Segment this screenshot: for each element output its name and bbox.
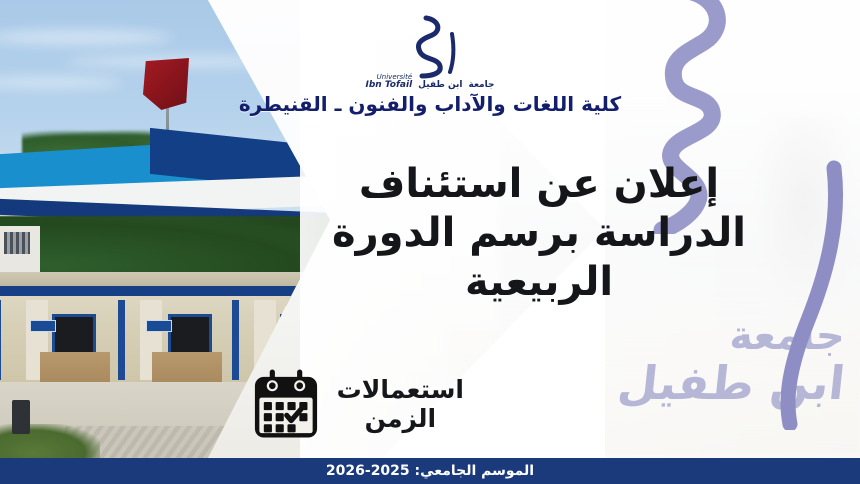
logo-latin-main: Ibn Tofail (366, 81, 413, 90)
logo-wordmark: جامعة ابن طفيل Université Ibn Tofail (366, 74, 495, 90)
timetable-label-line-2: الزمن (337, 405, 464, 434)
facade-pillar (232, 300, 239, 380)
facade-pillar (0, 300, 1, 380)
facade-window (168, 314, 212, 356)
facade-window (52, 314, 96, 356)
timetable-row: استعمالات الزمن (249, 368, 464, 442)
distant-building-window (4, 232, 30, 254)
headline-line-2: الدراسة برسم الدورة (304, 209, 774, 258)
headline-line-1: إعلان عن استئناف (304, 160, 774, 209)
announcement-poster: جامعة ابن طفيل جامعة ابن طفيل Université… (0, 0, 860, 484)
facade-pillar (118, 300, 125, 380)
trash-bin (12, 400, 30, 434)
academic-year-text: الموسم الجامعي: 2025-2026 (326, 463, 534, 479)
logo-arabic-name-2: ابن طفيل (418, 80, 462, 90)
timetable-label-line-1: استعمالات (337, 376, 464, 405)
facade-brick-panel (40, 352, 110, 384)
university-logo: جامعة ابن طفيل Université Ibn Tofail (0, 4, 860, 90)
door-sign (146, 320, 172, 332)
logo-latin-name: Université Ibn Tofail (366, 74, 413, 90)
headline: إعلان عن استئناف الدراسة برسم الدورة الر… (304, 160, 774, 306)
facade-brick-panel (152, 352, 222, 384)
door-sign (30, 320, 56, 332)
timetable-label: استعمالات الزمن (337, 376, 464, 434)
faculty-name: كلية اللغات والآداب والفنون ـ القنيطرة (0, 92, 860, 116)
calendar-check-icon (249, 368, 323, 442)
logo-arabic-name: جامعة (469, 80, 495, 90)
headline-line-3: الربيعية (304, 258, 774, 307)
footer-bar: الموسم الجامعي: 2025-2026 (0, 458, 860, 484)
logo-calligraphy-icon (394, 14, 466, 80)
